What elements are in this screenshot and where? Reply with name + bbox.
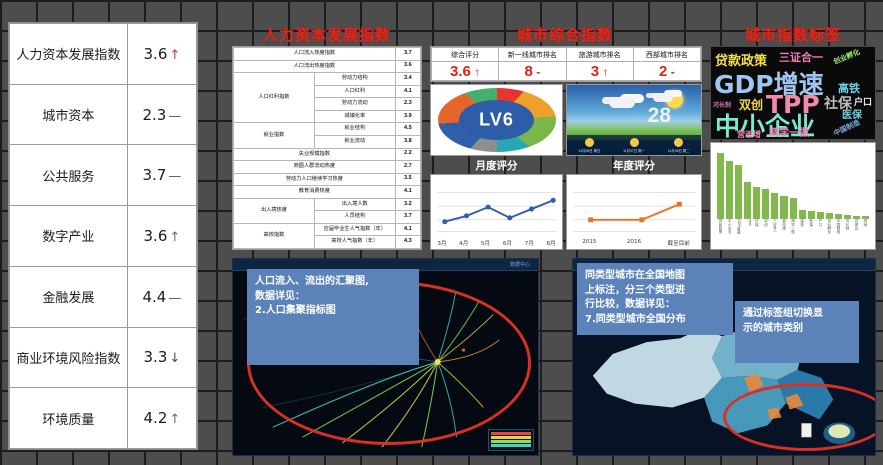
hc-metric-value: 3.8 [395,135,420,148]
population-flow-map-panel[interactable]: 数据中心 人口流入、流出的汇聚图, 数 [232,258,539,456]
axis-tick-label: 8月 [540,239,562,247]
city-metric-header: 新一线城市排名 [499,48,566,62]
bar[interactable] [780,196,787,219]
city-metric-value: 3 ↑ [566,62,633,81]
bar-label: 中小企业 [726,219,733,247]
bar-label: 营改增 [780,219,787,247]
word-cloud-tag[interactable]: 两学一做 [769,129,809,139]
seven-dim-label: 城市资本 [10,84,128,145]
trend-up-gray-icon: ↑ [167,230,180,245]
word-cloud-tag[interactable]: 营改增 [737,131,761,139]
table-row[interactable]: 教育消费热度4.1 [234,186,421,199]
hc-metric-label: 人员结构 [314,211,395,224]
map-right-side-note: 通过标签组切换显 示的城市类别 [735,301,859,363]
value-number: 3.6 [144,45,168,63]
trend-symbol-icon: - [667,65,674,79]
trend-flat-icon: — [166,109,181,124]
word-cloud-tag[interactable]: 河长制 [713,103,731,109]
value-number: 4.2 [144,409,168,427]
map-left-legend [488,429,534,451]
hc-metric-label: 应届毕业生人气指数（年） [314,223,395,236]
bar[interactable] [799,210,806,219]
hc-metric-value: 3.7 [395,48,420,61]
hc-metric-value: 3.7 [395,211,420,224]
trend-up-red-icon: ↑ [167,48,180,63]
trend-down-icon: ↓ [167,351,180,366]
weather-condition-icon [585,138,594,147]
word-cloud-tag[interactable]: 社保 [824,97,852,111]
value-number: 3 [591,63,599,80]
hc-group-label: 就业指数 [234,123,315,148]
hc-metric-value: 2.3 [395,98,420,111]
weather-condition-icon [674,138,683,147]
bar-label: 两学一做 [790,219,797,247]
bar-label: 医保 [808,219,815,247]
human-capital-index-table[interactable]: 人口流入热度指数3.7人口流出热度指数3.6人口红利指数劳动力结构3.4人口红利… [232,46,422,250]
hc-metric-value: 3.9 [395,110,420,123]
seven-dim-label: 人力资本发展指数 [10,24,128,85]
value-number: 3.3 [144,348,168,366]
seven-dim-label: 数字产业 [10,206,128,267]
hc-group-label: 出入境热度 [234,198,315,223]
monthly-chart-xaxis: 3月4月5月6月7月8月 [431,239,562,247]
hc-metric-value: 3.6 [395,60,420,73]
bar-label: GDP增速 [735,219,742,247]
hc-metric-label: 就业流动 [314,135,395,148]
weather-condition-icon [630,138,639,147]
hc-metric-label: 城镇化率 [314,110,395,123]
table-row[interactable]: 环境质量4.2↑ [10,388,197,449]
seven-dim-label: 公共服务 [10,145,128,206]
panel-title-human-capital: 人力资本发展指数 [232,24,422,45]
bar-label: 河长制 [844,219,851,247]
word-cloud-tag[interactable]: 三证合一 [779,52,823,63]
seven-dim-value: 3.3↓ [127,327,196,388]
axis-tick-label: 截至目前 [656,239,701,247]
word-cloud-tag[interactable]: 高铁 [838,83,860,94]
word-cloud-tag[interactable]: 创业孵化 [833,49,862,66]
bar-label: 创业孵化 [826,219,833,247]
value-number: 3.6 [450,63,471,80]
bar[interactable] [744,182,751,219]
bar[interactable] [762,189,769,219]
axis-tick-label: 5月 [475,239,497,247]
value-number: 2.3 [142,106,166,124]
bar[interactable] [753,187,760,219]
bar-label: 社保 [753,219,760,247]
trend-flat-icon: — [166,169,181,184]
hc-metric-label: 劳动力人口继续学习热度 [234,173,396,186]
bar-label: 自贸区 [853,219,860,247]
axis-tick-label: 7月 [518,239,540,247]
hc-metric-label: 商圈人群流动热度 [234,161,396,174]
table-row[interactable]: 金融发展4.4— [10,266,197,327]
hc-metric-label: 出入境人数 [314,198,395,211]
table-row[interactable]: 人口流入热度指数3.7 [234,48,421,61]
level-badge-label: LV6 [479,110,514,131]
hc-metric-label: 人口红利 [314,85,395,98]
bar[interactable] [771,193,778,219]
city-metric-header: 西部城市排名 [633,48,700,62]
word-cloud-tag[interactable]: 医保 [842,111,862,121]
tag-frequency-bar-chart[interactable]: 贷款政策中小企业GDP增速TPP社保双创三证合一营改增两学一做高铁医保户口创业孵… [710,142,876,250]
weather-widget[interactable]: 28 11月06日 周日11月07日 周一11月08日 周二 [566,84,702,156]
word-cloud-tag[interactable]: 贷款政策 [715,55,767,68]
table-row[interactable]: 数字产业3.6↑ [10,206,197,267]
monthly-rating-title: 月度评分 [430,158,563,173]
axis-tick-label: 2016 [612,239,657,247]
annual-chart-svg [567,175,701,249]
panel-title-city-composite: 城市综合指数 [470,24,660,45]
map-right-annotation-note: 同类型城市在全国地图 上标注，分三个类型进 行比较，数据详见： 7.同类型城市全… [577,263,733,335]
value-number: 3.7 [142,166,166,184]
axis-tick-label: 6月 [496,239,518,247]
hc-metric-value: 3.4 [395,73,420,86]
hc-metric-value: 4.1 [395,186,420,199]
city-level-donut-chart[interactable]: LV6 [430,84,563,156]
weather-forecast-cell: 11月07日 周一 [612,135,657,155]
hc-metric-label: 劳动力流动 [314,98,395,111]
hc-metric-label: 失业规模指数 [234,148,396,161]
hc-metric-label: 就业结构 [314,123,395,136]
city-metric-value: 3.6 ↑ [432,62,499,81]
cloud-icon-secondary [653,93,673,102]
value-number: 8 [525,63,533,80]
table-row[interactable]: 劳动力人口继续学习热度3.5 [234,173,421,186]
trend-symbol-icon: - [533,65,540,79]
bar[interactable] [808,211,815,219]
hc-metric-value: 4.3 [395,236,420,249]
seven-dimension-index-table[interactable]: 人力资本发展指数3.6↑城市资本2.3—公共服务3.7—数字产业3.6↑金融发展… [8,22,198,450]
hc-metric-value: 4.1 [395,223,420,236]
value-number: 4.4 [142,288,166,306]
table-row[interactable]: 就业指数就业结构4.5 [234,123,421,136]
weather-forecast-cell: 11月06日 周日 [567,135,612,155]
bar[interactable] [735,165,742,219]
table-row[interactable]: 高校指数应届毕业生人气指数（年）4.1 [234,223,421,236]
hc-metric-value: 3.2 [395,198,420,211]
weather-forecast-label: 11月06日 周日 [578,148,600,153]
bar[interactable] [717,153,724,219]
table-row[interactable]: 商圈人群流动热度2.7 [234,161,421,174]
seven-dim-label: 金融发展 [10,266,128,327]
city-metric-header: 综合评分 [432,48,499,62]
city-metric-header: 旅游城市排名 [566,48,633,62]
axis-tick-label: 2015 [567,239,612,247]
city-metric-value: 8 - [499,62,566,81]
bar-label: 中国制造 [835,219,842,247]
seven-dimension-table: 人力资本发展指数3.6↑城市资本2.3—公共服务3.7—数字产业3.6↑金融发展… [9,23,197,449]
monthly-rating-chart[interactable]: 3月4月5月6月7月8月 [430,174,563,250]
panel-title-city-tag: 城市指数标签 [710,24,876,45]
word-cloud-tag[interactable]: 中国制造 [833,119,861,137]
bar-label: 双创 [762,219,769,247]
word-cloud-tag[interactable]: 户口 [854,99,872,108]
trend-flat-icon: — [166,291,181,306]
trend-symbol-icon: ↑ [471,65,480,79]
annual-chart-xaxis: 20152016截至目前 [567,239,701,247]
table-row[interactable]: 人口红利指数劳动力结构3.4 [234,73,421,86]
table-row[interactable]: 人力资本发展指数3.6↑ [10,24,197,85]
value-number: 3.6 [144,227,168,245]
cloud-icon [609,97,635,108]
table-row[interactable]: 人口流出热度指数3.6 [234,60,421,73]
table-row[interactable]: 商业环境风险指数3.3↓ [10,327,197,388]
dashboard-canvas: 成都七维指数 人力资本发展指数 城市综合指数 城市指数标签 人力资本发展指数3.… [0,0,883,465]
monthly-chart-svg [431,175,562,249]
seven-dim-label: 环境质量 [10,388,128,449]
annual-rating-title: 年度评分 [566,158,702,173]
weather-forecast-label: 11月08日 周二 [668,148,690,153]
bar-label: 贷款政策 [717,219,724,247]
weather-temperature: 28 [648,104,671,128]
hc-metric-value: 3.5 [395,173,420,186]
human-capital-table: 人口流入热度指数3.7人口流出热度指数3.6人口红利指数劳动力结构3.4人口红利… [233,47,421,249]
table-row[interactable]: 城市资本2.3— [10,84,197,145]
bar-label: 户口 [817,219,824,247]
bar-label: 高铁 [799,219,806,247]
weather-forecast-label: 11月07日 周一 [623,148,645,153]
city-distribution-map-panel[interactable]: 同类型城市在全国地图 上标注，分三个类型进 行比较，数据详见： 7.同类型城市全… [572,258,876,456]
hc-metric-value: 2.2 [395,148,420,161]
table-row[interactable]: 出入境热度出入境人数3.2 [234,198,421,211]
bar-chart-labels: 贷款政策中小企业GDP增速TPP社保双创三证合一营改增两学一做高铁医保户口创业孵… [717,219,869,247]
city-index-word-cloud[interactable]: 贷款政策三证合一创业孵化GDP增速高铁河长制双创TPP社保户口医保中小企业中国制… [710,46,876,140]
table-row[interactable]: 公共服务3.7— [10,145,197,206]
seven-dim-label: 商业环境风险指数 [10,327,128,388]
hc-metric-label: 人口流入热度指数 [234,48,396,61]
bar-label: 三证合一 [771,219,778,247]
hc-metric-value: 4.5 [395,123,420,136]
hc-group-label: 人口红利指数 [234,73,315,123]
seven-dim-value: 3.7— [127,145,196,206]
word-cloud-tag[interactable]: 双创 [739,99,763,111]
weather-forecast-cell: 11月08日 周二 [656,135,701,155]
city-composite-table: 综合评分新一线城市排名旅游城市排名西部城市排名 3.6 ↑8 -3 ↑2 - [431,47,701,81]
seven-dim-value: 4.4— [127,266,196,327]
hc-metric-label: 高校人气指数（年） [314,236,395,249]
seven-dim-value: 2.3— [127,84,196,145]
bar[interactable] [726,161,733,219]
bar-label: TPP [744,219,751,247]
hc-group-label: 高校指数 [234,223,315,248]
map-right-highlight-ring [723,383,876,451]
hc-metric-value: 4.1 [395,85,420,98]
hc-metric-label: 教育消费热度 [234,186,396,199]
map-left-annotation-note: 人口流入、流出的汇聚图, 数据详见： 2.人口集聚指标图 [247,269,419,365]
seven-dim-value: 3.6↑ [127,24,196,85]
seven-dim-value: 4.2↑ [127,388,196,449]
hc-metric-value: 2.7 [395,161,420,174]
trend-up-gray-icon: ↑ [167,412,180,427]
axis-tick-label: 3月 [431,239,453,247]
trend-symbol-icon: ↑ [599,65,608,79]
bar-chart-bars [717,153,869,219]
bar[interactable] [790,198,797,219]
table-row[interactable]: 失业规模指数2.2 [234,148,421,161]
bar[interactable] [817,212,824,219]
hc-metric-label: 人口流出热度指数 [234,60,396,73]
weather-forecast-strip: 11月06日 周日11月07日 周一11月08日 周二 [567,135,701,155]
city-metric-value: 2 - [633,62,700,81]
bar-label: 其他 [862,219,869,247]
axis-tick-label: 4月 [453,239,475,247]
city-composite-scorecard[interactable]: 综合评分新一线城市排名旅游城市排名西部城市排名 3.6 ↑8 -3 ↑2 - [430,46,702,82]
seven-dim-value: 3.6↑ [127,206,196,267]
annual-rating-chart[interactable]: 20152016截至目前 [566,174,702,250]
hc-metric-label: 劳动力结构 [314,73,395,86]
